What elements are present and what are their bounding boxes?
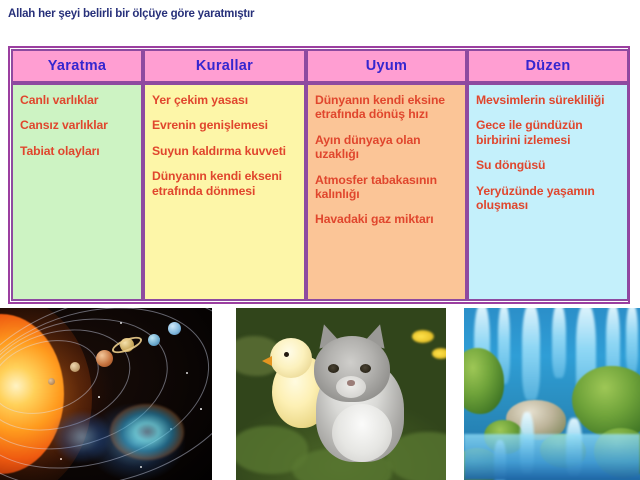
list-item: Dünyanın kendi eksine etrafında dönüş hı… (315, 93, 459, 122)
slide: Allah her şeyi belirli bir ölçüye göre y… (0, 0, 640, 480)
planet-neptune (168, 322, 181, 335)
planet-inner (70, 362, 80, 372)
cell-duzen: Mevsimlerin sürekliliği Gece ile gündüzü… (467, 83, 629, 301)
list-item: Canlı varlıklar (20, 93, 135, 107)
list-item: Su döngüsü (476, 158, 621, 172)
column-header-yaratma: Yaratma (11, 49, 143, 83)
kitten-eye (328, 364, 339, 373)
cell-kurallar: Yer çekim yasası Evrenin genişlemesi Suy… (143, 83, 306, 301)
concept-table-frame: Yaratma Kurallar Uyum Düzen Canlı varlık… (8, 46, 630, 304)
list-item: Yer çekim yasası (152, 93, 298, 107)
photo-strip (0, 308, 640, 480)
water-pool (464, 434, 640, 480)
table-header-row-group: Yaratma Kurallar Uyum Düzen (11, 49, 629, 83)
list-uyum: Dünyanın kendi eksine etrafında dönüş hı… (315, 93, 459, 227)
page-title: Allah her şeyi belirli bir ölçüye göre y… (8, 8, 254, 20)
kitten-nose (347, 380, 355, 386)
column-header-duzen: Düzen (467, 49, 629, 83)
cell-uyum: Dünyanın kendi eksine etrafında dönüş hı… (306, 83, 467, 301)
list-duzen: Mevsimlerin sürekliliği Gece ile gündüzü… (476, 93, 621, 212)
list-item: Cansız varlıklar (20, 118, 135, 132)
kitten-eye (360, 364, 371, 373)
column-header-kurallar: Kurallar (143, 49, 306, 83)
chick-and-kitten-photo (236, 308, 446, 480)
blue-nebula (54, 412, 110, 462)
list-yaratma: Canlı varlıklar Cansız varlıklar Tabiat … (20, 93, 135, 158)
chick-eye (284, 352, 289, 357)
table-header-row: Yaratma Kurallar Uyum Düzen (11, 49, 629, 83)
solar-system-photo (0, 308, 212, 480)
table-body: Canlı varlıklar Cansız varlıklar Tabiat … (11, 83, 629, 301)
list-kurallar: Yer çekim yasası Evrenin genişlemesi Suy… (152, 93, 298, 198)
chick-beak (262, 356, 272, 366)
list-item: Gece ile gündüzün birbirini izlemesi (476, 118, 621, 147)
planet-jupiter (96, 350, 113, 367)
orbit-path (0, 308, 212, 480)
list-item: Havadaki gaz miktarı (315, 212, 459, 226)
list-item: Evrenin genişlemesi (152, 118, 298, 132)
table-row: Canlı varlıklar Cansız varlıklar Tabiat … (11, 83, 629, 301)
list-item: Tabiat olayları (20, 144, 135, 158)
list-item: Ayın dünyaya olan uzaklığı (315, 133, 459, 162)
list-item: Atmosfer tabakasının kalınlığı (315, 173, 459, 202)
planet-inner (48, 378, 55, 385)
list-item: Dünyanın kendi ekseni etrafında dönmesi (152, 169, 298, 198)
list-item: Suyun kaldırma kuvveti (152, 144, 298, 158)
list-item: Yeryüzünde yaşamın oluşması (476, 184, 621, 213)
concept-table: Yaratma Kurallar Uyum Düzen Canlı varlık… (11, 49, 629, 301)
planet-uranus (148, 334, 160, 346)
list-item: Mevsimlerin sürekliliği (476, 93, 621, 107)
cell-yaratma: Canlı varlıklar Cansız varlıklar Tabiat … (11, 83, 143, 301)
chick-head (270, 338, 312, 378)
waterfall-photo (464, 308, 640, 480)
column-header-uyum: Uyum (306, 49, 467, 83)
kitten-chest (332, 404, 392, 462)
ring-nebula (110, 404, 184, 460)
